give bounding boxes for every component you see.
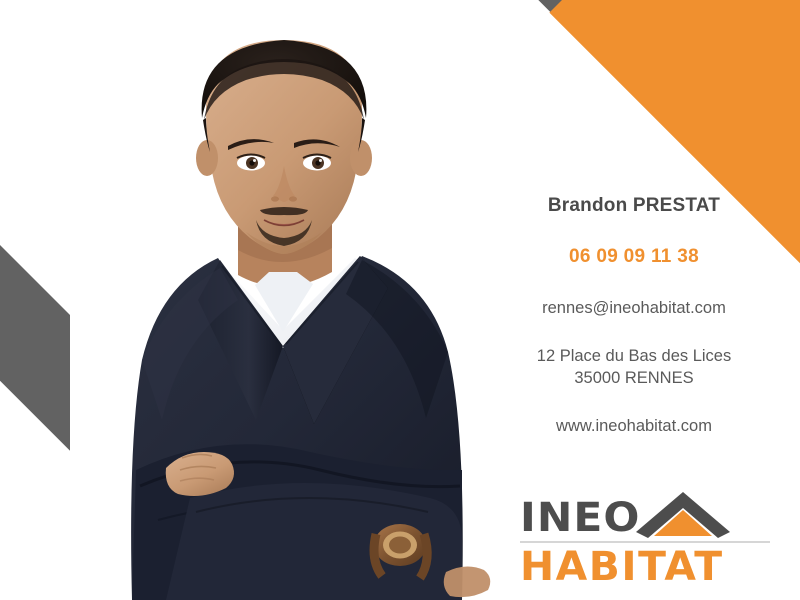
contact-info-block: Brandon PRESTAT 06 09 09 11 38 rennes@in… bbox=[468, 196, 800, 436]
logo-wordmark-ineo: INEO bbox=[520, 498, 641, 538]
portrait-photo bbox=[70, 0, 510, 600]
address-line-2: 35000 RENNES bbox=[468, 367, 800, 389]
business-card: Brandon PRESTAT 06 09 09 11 38 rennes@in… bbox=[0, 0, 800, 600]
ineo-habitat-logo[interactable]: INEO HABITAT bbox=[520, 492, 770, 592]
portrait-illustration bbox=[70, 0, 510, 600]
house-roof-icon bbox=[636, 492, 730, 538]
contact-address: 12 Place du Bas des Lices 35000 RENNES bbox=[468, 345, 800, 390]
logo-wordmark-habitat: HABITAT bbox=[520, 544, 775, 590]
contact-name: Brandon PRESTAT bbox=[468, 196, 800, 217]
contact-email[interactable]: rennes@ineohabitat.com bbox=[468, 299, 800, 317]
logo-divider bbox=[520, 541, 770, 543]
contact-phone[interactable]: 06 09 09 11 38 bbox=[468, 247, 800, 268]
logo-top-row: INEO bbox=[520, 492, 770, 538]
address-line-1: 12 Place du Bas des Lices bbox=[468, 345, 800, 367]
contact-website[interactable]: www.ineohabitat.com bbox=[468, 417, 800, 435]
